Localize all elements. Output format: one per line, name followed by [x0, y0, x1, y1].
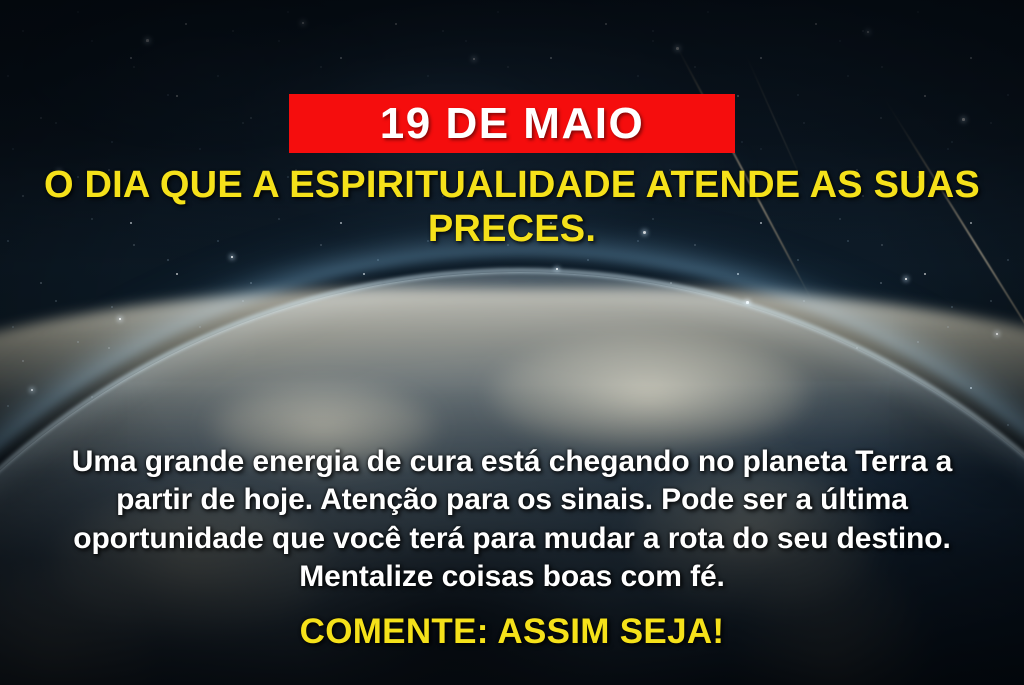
date-banner-label: 19 DE MAIO [380, 102, 644, 146]
poster-canvas: 19 DE MAIO O DIA QUE A ESPIRITUALIDADE A… [0, 0, 1024, 685]
call-to-action-text: COMENTE: ASSIM SEJA! [0, 612, 1024, 652]
date-banner: 19 DE MAIO [289, 94, 735, 153]
poster-content: 19 DE MAIO O DIA QUE A ESPIRITUALIDADE A… [0, 0, 1024, 685]
body-paragraph: Uma grande energia de cura está chegando… [52, 443, 972, 597]
headline-text: O DIA QUE A ESPIRITUALIDADE ATENDE AS SU… [0, 163, 1024, 252]
